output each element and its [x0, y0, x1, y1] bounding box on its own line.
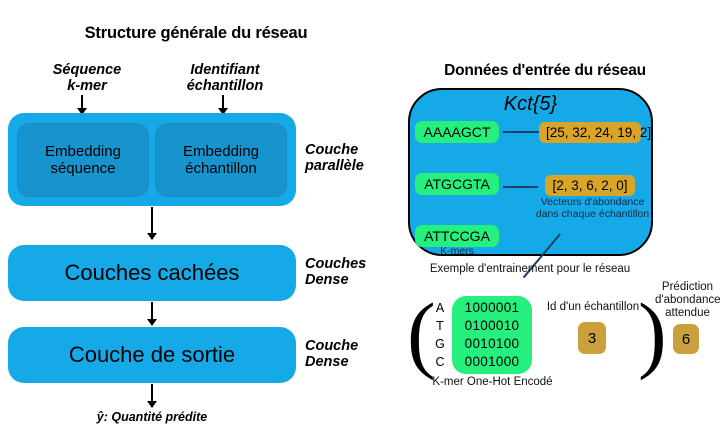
abundance-chip-1[interactable]: [25, 32, 24, 19, 2] [539, 122, 641, 143]
onehot-row-3: 0010100 [465, 335, 520, 353]
connector-line-1 [503, 131, 539, 133]
onehot-row-1: 1000001 [465, 299, 520, 317]
embedding-sample-box[interactable]: Embedding échantillon [155, 123, 287, 197]
input-label-sample: Identifiant échantillon [155, 62, 295, 94]
arrow-head-parallel-hidden [147, 233, 157, 240]
hidden-layer-box[interactable]: Couches cachées [8, 245, 296, 301]
prediction-label: Prédiction d'abondance attendue [655, 281, 720, 320]
side-label-parallel: Couche parallèle [305, 142, 364, 174]
input-label-sequence: Séquence k-mer [22, 62, 152, 94]
base-letter-a: A [433, 299, 447, 317]
side-label-output: Couche Dense [305, 338, 358, 370]
arrow-line-output-yhat [151, 384, 153, 402]
arrow-head-output-yhat [147, 401, 157, 408]
kmer-chip-3[interactable]: ATTCCGA [415, 225, 499, 247]
sample-id-label: Id d'un échantillon [545, 301, 641, 314]
connector-line-2 [503, 186, 538, 188]
onehot-row-2: 0100010 [465, 317, 520, 335]
embedding-sample-label: Embedding échantillon [183, 143, 259, 177]
right-panel-title: Données d'entrée du réseau [395, 62, 695, 80]
side-label-hidden: Couches Dense [305, 256, 366, 288]
hidden-layer-label: Couches cachées [65, 260, 240, 286]
arrow-head-hidden-output [147, 319, 157, 326]
onehot-matrix[interactable]: 1000001 0100010 0010100 0001000 [452, 296, 532, 374]
kmers-caption: K-mers [415, 245, 499, 257]
left-panel-title: Structure générale du réseau [0, 24, 392, 43]
arrow-line-parallel-hidden [151, 207, 153, 234]
embedding-sequence-label: Embedding séquence [45, 143, 121, 177]
arrow-line-sample [222, 95, 224, 109]
sample-id-value[interactable]: 3 [578, 322, 606, 354]
kmer-chip-1[interactable]: AAAAGCT [415, 121, 499, 143]
base-letter-c: C [433, 353, 447, 371]
kct-label: Kct{5} [408, 93, 653, 116]
output-prediction-caption: ŷ: Quantité prédite [52, 410, 252, 424]
base-letter-t: T [433, 317, 447, 335]
training-example-caption: Exemple d'entrainement pour le réseau [410, 263, 650, 276]
onehot-row-4: 0001000 [465, 353, 520, 371]
abundance-caption: Vecteurs d'abondance dans chaque échanti… [535, 196, 650, 220]
parallel-layer-box[interactable]: Embedding séquence Embedding échantillon [8, 113, 296, 206]
abundance-chip-2[interactable]: [2, 3, 6, 2, 0] [545, 175, 635, 196]
arrow-line-hidden-output [151, 302, 153, 320]
base-letter-g: G [433, 335, 447, 353]
onehot-caption: K-mer One-Hot Encodé [425, 376, 560, 389]
prediction-value[interactable]: 6 [673, 324, 699, 354]
arrow-line-sequence [81, 95, 83, 109]
left-paren: ( [407, 290, 436, 376]
output-layer-label: Couche de sortie [69, 342, 235, 368]
base-letter-column: A T G C [433, 299, 447, 371]
kmer-chip-2[interactable]: ATGCGTA [415, 173, 499, 195]
embedding-sequence-box[interactable]: Embedding séquence [17, 123, 149, 197]
output-layer-box[interactable]: Couche de sortie [8, 327, 296, 383]
